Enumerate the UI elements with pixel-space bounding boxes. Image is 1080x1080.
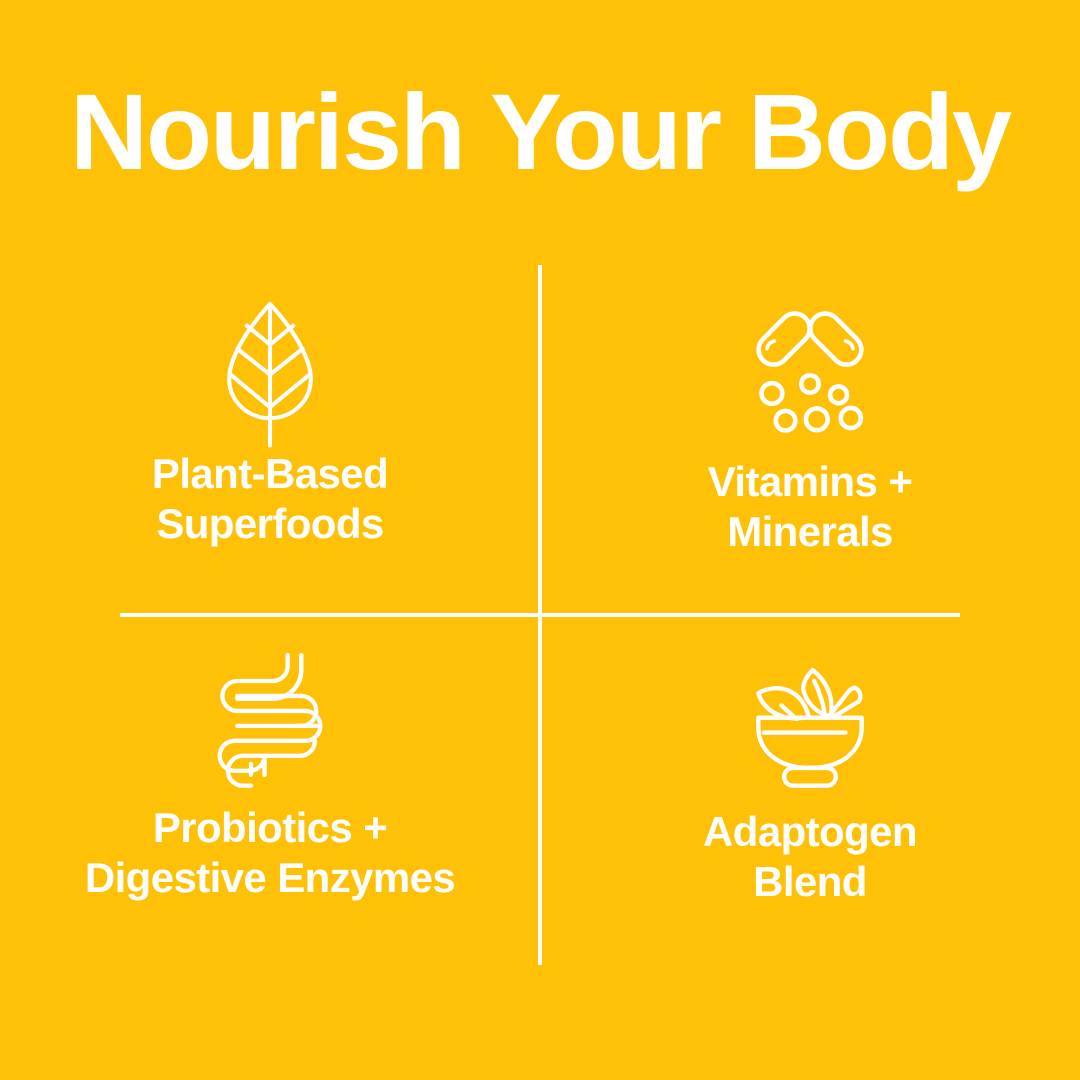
feature-label-vitamins-minerals: Vitamins + Minerals xyxy=(708,457,913,556)
feature-cell-probiotics-digestive-enzymes[interactable]: Probiotics + Digestive Enzymes xyxy=(0,615,540,965)
capsules-icon xyxy=(742,301,878,437)
feature-label-line2: Minerals xyxy=(708,507,913,557)
feature-cell-plant-based-superfoods[interactable]: Plant-Based Superfoods xyxy=(0,265,540,615)
feature-label-probiotics-digestive-enzymes: Probiotics + Digestive Enzymes xyxy=(85,803,455,902)
feature-label-line2: Superfoods xyxy=(152,499,388,549)
feature-label-line1: Plant-Based xyxy=(152,450,388,497)
page-title: Nourish Your Body xyxy=(0,78,1080,186)
herb-bowl-icon xyxy=(742,651,878,787)
feature-cell-adaptogen-blend[interactable]: Adaptogen Blend xyxy=(540,615,1080,965)
feature-label-line1: Adaptogen xyxy=(703,808,917,855)
poster-canvas: Nourish Your Body xyxy=(0,0,1080,1080)
intestines-icon xyxy=(202,647,338,783)
feature-label-line2: Digestive Enzymes xyxy=(85,853,455,903)
leaf-icon xyxy=(202,293,338,429)
feature-label-line1: Probiotics + xyxy=(153,804,387,851)
feature-label-line1: Vitamins + xyxy=(708,458,913,505)
feature-label-adaptogen-blend: Adaptogen Blend xyxy=(703,807,917,906)
feature-grid: Plant-Based Superfoods xyxy=(0,265,1080,965)
feature-label-plant-based-superfoods: Plant-Based Superfoods xyxy=(152,449,388,548)
feature-label-line2: Blend xyxy=(703,857,917,907)
feature-cell-vitamins-minerals[interactable]: Vitamins + Minerals xyxy=(540,265,1080,615)
